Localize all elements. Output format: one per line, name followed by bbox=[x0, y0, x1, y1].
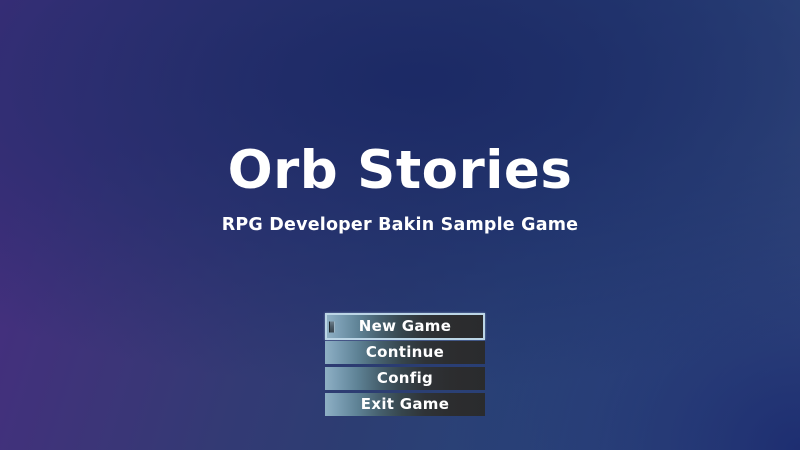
menu-item-config[interactable]: Config bbox=[325, 367, 485, 390]
menu-item-label: Exit Game bbox=[361, 397, 449, 412]
menu-item-new-game[interactable]: New Game bbox=[325, 313, 485, 340]
menu-item-label: New Game bbox=[359, 319, 451, 334]
menu-item-label: Config bbox=[377, 371, 433, 386]
title-block: Orb Stories RPG Developer Bakin Sample G… bbox=[0, 143, 800, 235]
main-menu: New GameContinueConfigExit Game bbox=[325, 313, 485, 419]
menu-item-exit-game[interactable]: Exit Game bbox=[325, 393, 485, 416]
game-subtitle: RPG Developer Bakin Sample Game bbox=[0, 199, 800, 235]
title-screen: Orb Stories RPG Developer Bakin Sample G… bbox=[0, 0, 800, 450]
game-title: Orb Stories bbox=[0, 143, 800, 199]
menu-item-label: Continue bbox=[366, 345, 444, 360]
menu-item-continue[interactable]: Continue bbox=[325, 341, 485, 364]
selection-cursor-icon bbox=[329, 321, 335, 332]
